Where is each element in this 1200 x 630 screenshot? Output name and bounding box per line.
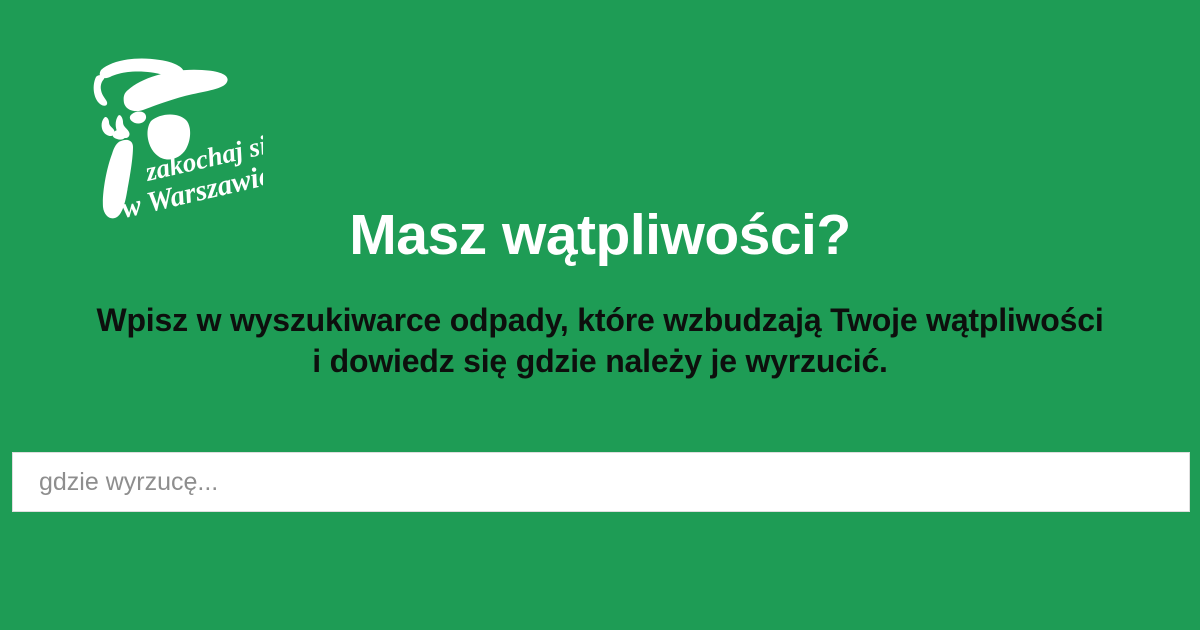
subtitle-line-1: Wpisz w wyszukiwarce odpady, które wzbud… (0, 300, 1200, 341)
search-input[interactable] (12, 452, 1190, 512)
zakochaj-sie-w-warszawie-logo[interactable]: zakochaj się w Warszawie (88, 46, 263, 226)
page-subtitle: Wpisz w wyszukiwarce odpady, które wzbud… (0, 300, 1200, 382)
search-bar (12, 452, 1190, 512)
page-root: zakochaj się w Warszawie Masz wątpliwośc… (0, 0, 1200, 630)
page-title: Masz wątpliwości? (0, 206, 1200, 266)
subtitle-line-2: i dowiedz się gdzie należy je wyrzucić. (0, 341, 1200, 382)
